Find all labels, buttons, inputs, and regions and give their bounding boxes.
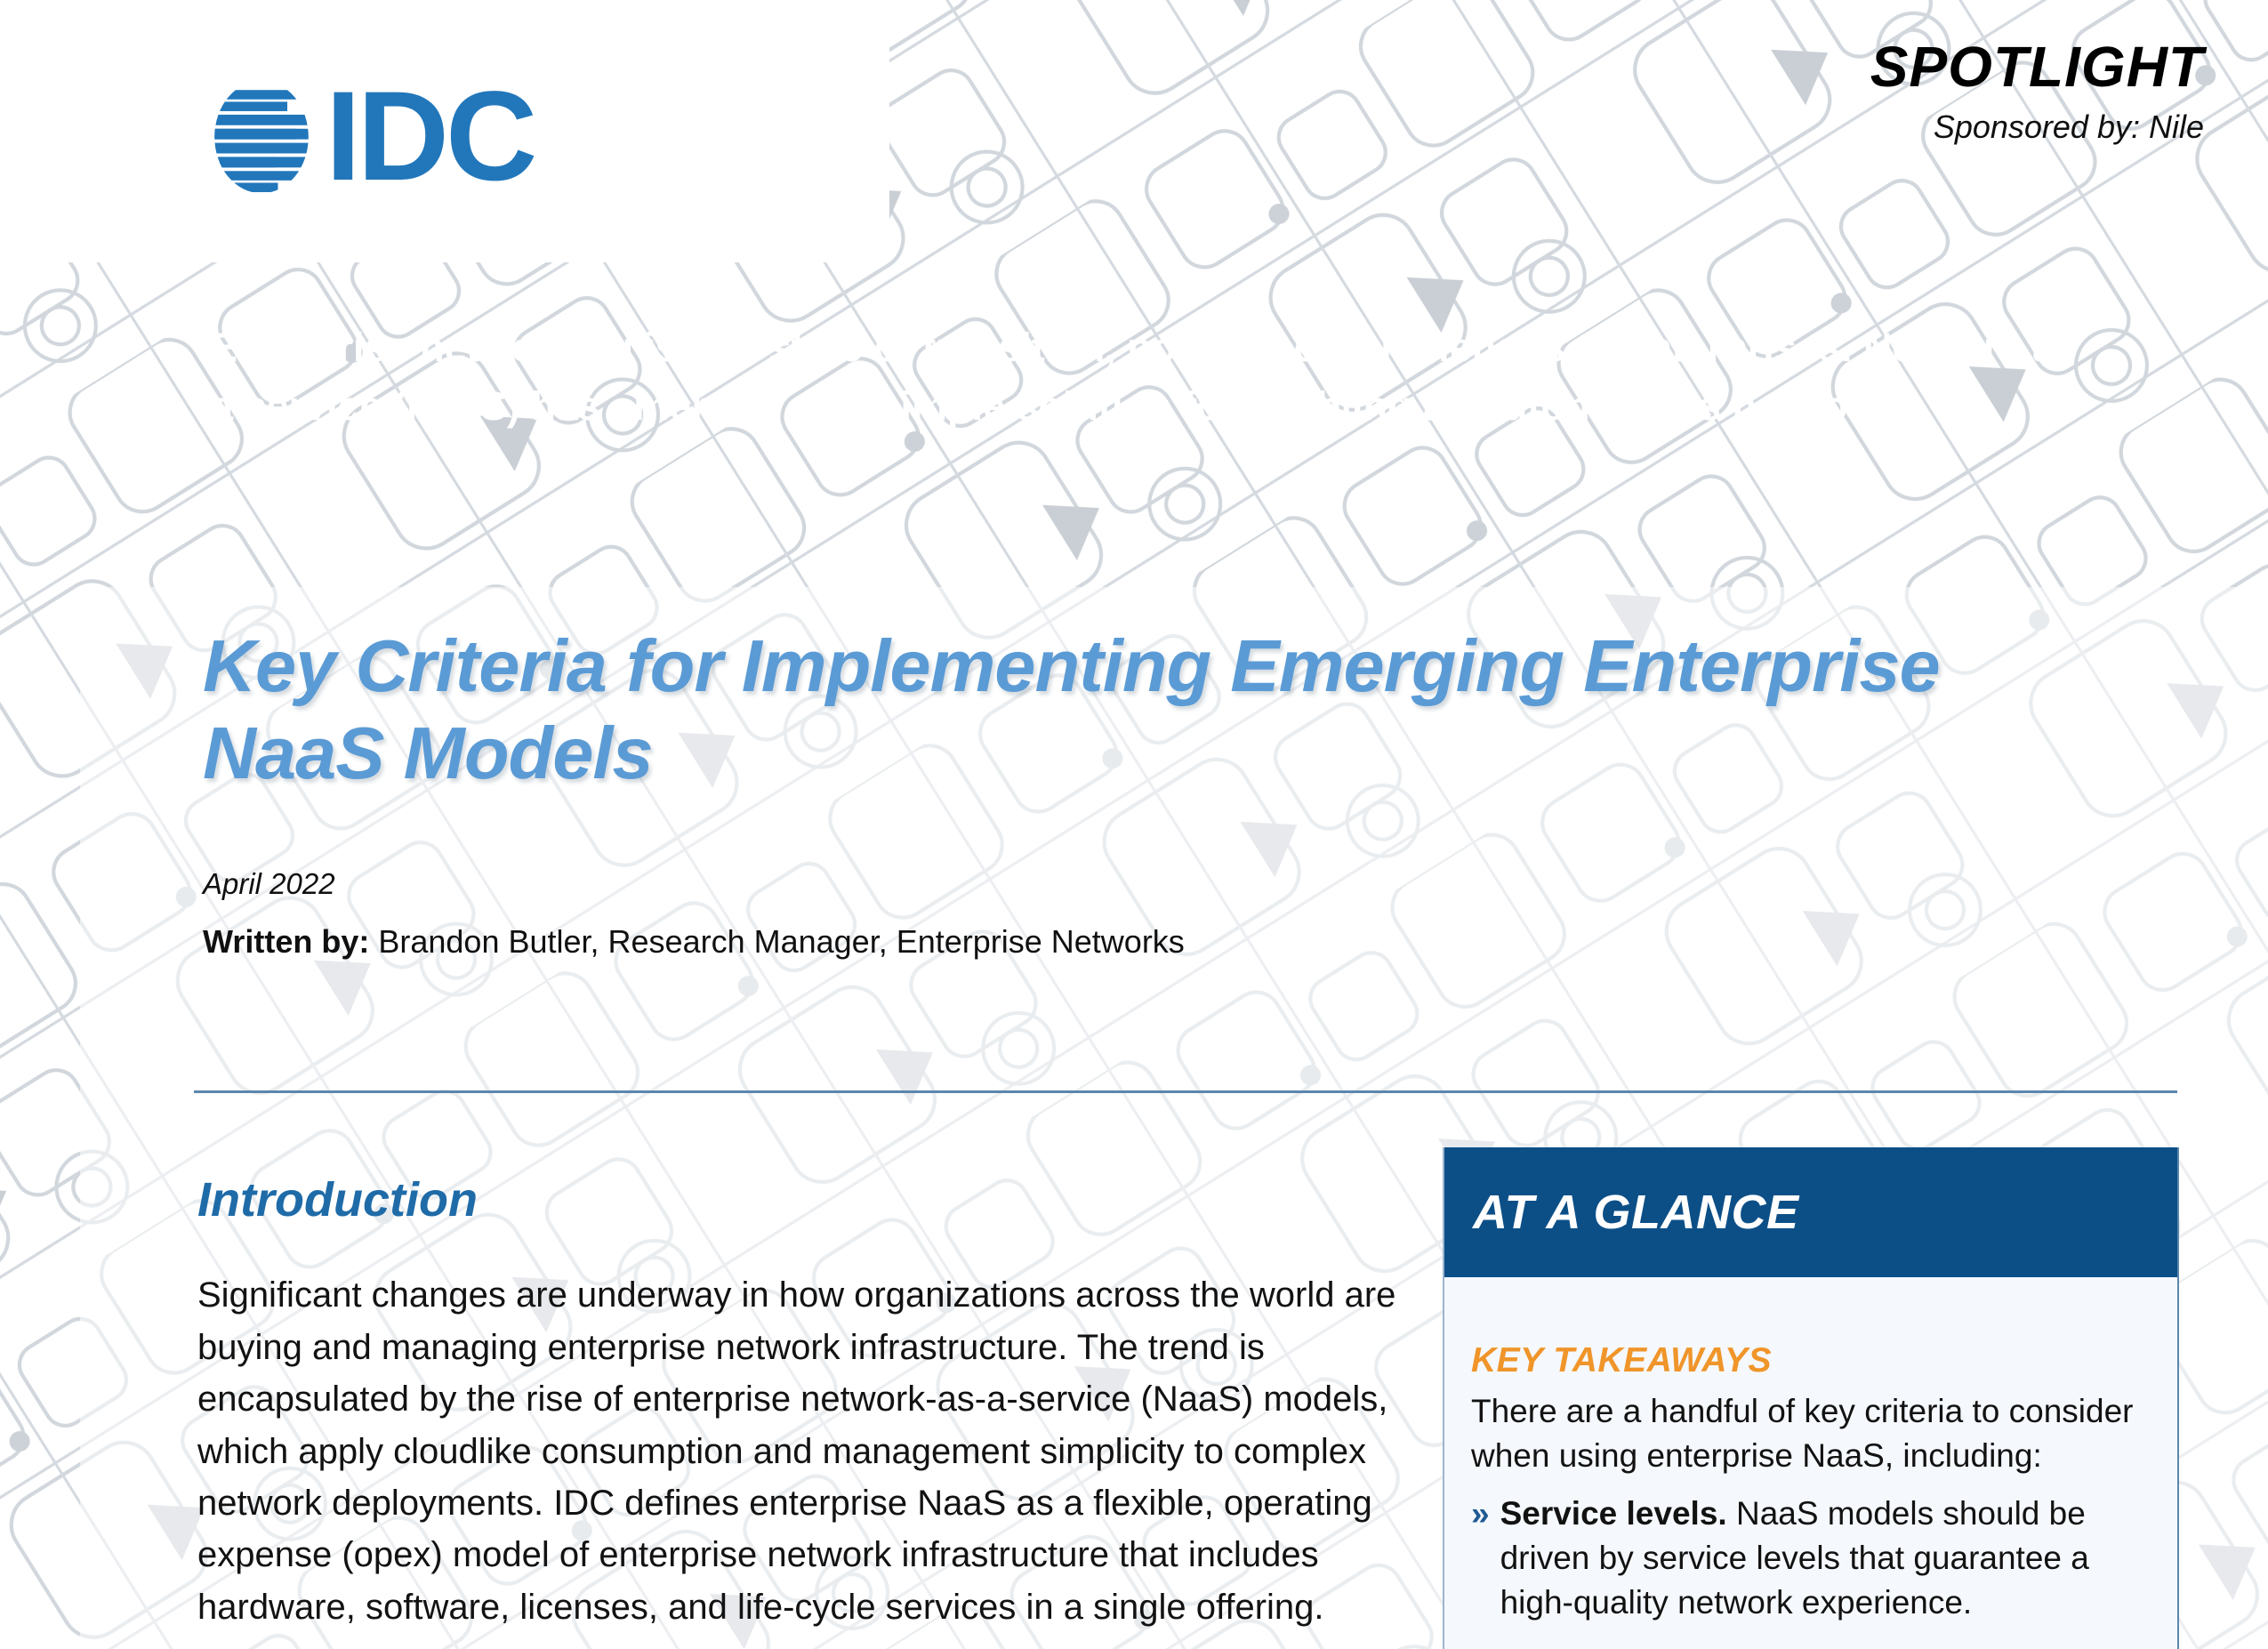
callout-banner-text: Enterprise networking is in a state of t… bbox=[211, 318, 2079, 436]
list-item: » Service levels. NaaS models should be … bbox=[1471, 1492, 2142, 1626]
list-item-text: Service levels. NaaS models should be dr… bbox=[1500, 1492, 2142, 1626]
at-a-glance-body: KEY TAKEAWAYS There are a handful of key… bbox=[1444, 1277, 2177, 1626]
main-content-column: Introduction Significant changes are und… bbox=[197, 1174, 1425, 1633]
idc-logo: IDC bbox=[203, 73, 534, 200]
key-takeaways-label: KEY TAKEAWAYS bbox=[1471, 1341, 2142, 1380]
author-byline: Written by: Brandon Butler, Research Man… bbox=[203, 923, 1185, 961]
guillemet-bullet-icon: » bbox=[1471, 1492, 1490, 1626]
key-takeaways-intro: There are a handful of key criteria to c… bbox=[1471, 1389, 2142, 1479]
section-heading-introduction: Introduction bbox=[197, 1174, 1425, 1227]
author-name: Brandon Butler, Research Manager, Enterp… bbox=[378, 923, 1184, 960]
sponsored-by-label: Sponsored by: Nile bbox=[1870, 109, 2204, 145]
at-a-glance-header: AT A GLANCE bbox=[1444, 1147, 2177, 1277]
idc-globe-logo-icon bbox=[203, 78, 320, 196]
introduction-paragraph: Significant changes are underway in how … bbox=[197, 1269, 1425, 1633]
spotlight-label: SPOTLIGHT bbox=[1870, 37, 2204, 97]
at-a-glance-box: AT A GLANCE KEY TAKEAWAYS There are a ha… bbox=[1443, 1147, 2179, 1649]
idc-logo-text: IDC bbox=[326, 73, 534, 200]
page-header: IDC SPOTLIGHT Sponsored by: Nile bbox=[0, 0, 2268, 262]
header-divider-rule bbox=[194, 1090, 2177, 1093]
at-a-glance-title: AT A GLANCE bbox=[1473, 1185, 1798, 1240]
page-title: Key Criteria for Implementing Emerging E… bbox=[203, 623, 2026, 797]
header-right-block: SPOTLIGHT Sponsored by: Nile bbox=[1870, 37, 2204, 145]
written-by-label: Written by: bbox=[203, 923, 369, 960]
publication-date: April 2022 bbox=[203, 867, 335, 901]
list-item-term: Service levels. bbox=[1500, 1495, 1727, 1532]
callout-banner: Enterprise networking is in a state of t… bbox=[0, 262, 2235, 591]
